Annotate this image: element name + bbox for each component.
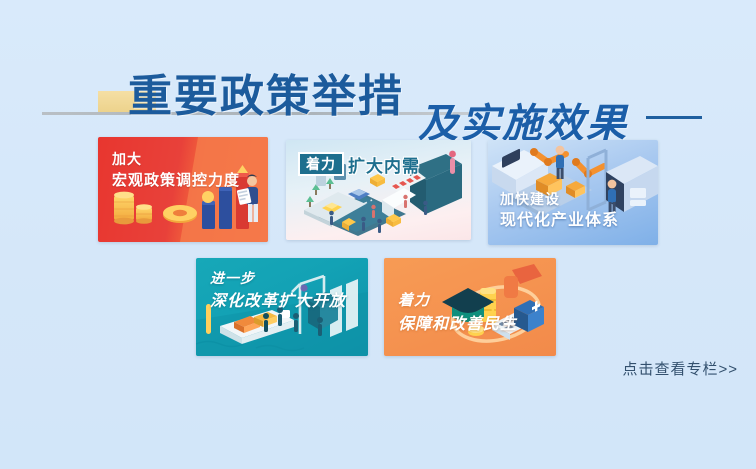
- card-macro-policy[interactable]: 加大 宏观政策调控力度: [98, 137, 268, 242]
- policy-card-grid: 加大 宏观政策调控力度: [0, 130, 756, 360]
- card-reform-opening[interactable]: 进一步 深化改革扩大开放: [196, 258, 368, 356]
- card-modern-industry[interactable]: 加快建设 现代化产业体系: [488, 140, 658, 245]
- card-livelihood-line1: 着力: [398, 292, 517, 311]
- card-modern-industry-label: 加快建设 现代化产业体系: [500, 191, 619, 232]
- card-macro-policy-label: 加大 宏观政策调控力度: [112, 151, 240, 190]
- card-macro-policy-line1: 加大: [112, 151, 240, 169]
- card-livelihood-label: 着力 保障和改善民生: [398, 292, 517, 335]
- card-reform-opening-line2: 深化改革扩大开放: [210, 292, 346, 312]
- header: 重要政策举措 及实施效果: [0, 28, 756, 120]
- view-column-link[interactable]: 点击查看专栏>>: [622, 358, 738, 379]
- card-expand-demand-tag-text: 着力: [306, 154, 336, 174]
- poster-canvas: 重要政策举措 及实施效果: [0, 0, 756, 469]
- card-expand-demand[interactable]: 着力 扩大内需: [286, 140, 471, 240]
- card-modern-industry-line2: 现代化产业体系: [500, 211, 619, 231]
- card-livelihood-line2: 保障和改善民生: [398, 315, 517, 335]
- card-macro-policy-line2: 宏观政策调控力度: [112, 172, 240, 191]
- card-modern-industry-line1: 加快建设: [500, 191, 619, 209]
- card-reform-opening-label: 进一步 深化改革扩大开放: [210, 270, 346, 312]
- card-reform-opening-line1: 进一步: [210, 270, 346, 288]
- card-expand-demand-tag: 着力: [298, 152, 344, 176]
- card-livelihood[interactable]: 着力 保障和改善民生: [384, 258, 556, 356]
- title-end-rule: [646, 116, 702, 119]
- card-expand-demand-headline: 扩大内需: [348, 152, 420, 177]
- page-title-line1: 重要政策举措: [128, 60, 404, 124]
